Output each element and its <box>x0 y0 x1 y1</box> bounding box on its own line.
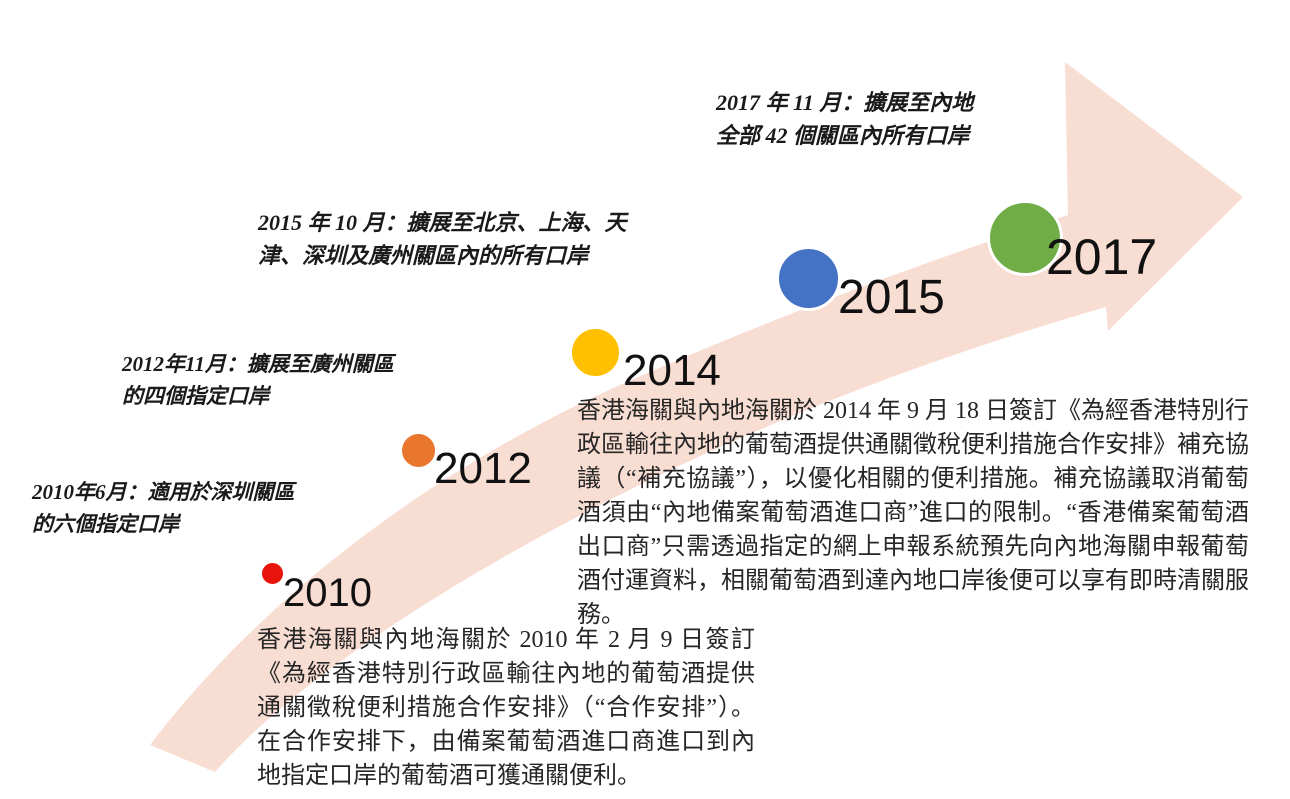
callout-2012: 2012年11月：擴展至廣州關區的四個指定口岸 <box>122 349 396 412</box>
paragraph-2014: 香港海關與內地海關於 2014 年 9 月 18 日簽訂《為經香港特別行政區輸往… <box>577 394 1249 633</box>
timeline-infographic: 2010 2012 2014 2015 2017 2010年6月：適用於深圳關區… <box>0 0 1290 799</box>
year-label-2010: 2010 <box>283 573 372 613</box>
paragraph-2010: 香港海關與內地海關於 2010 年 2 月 9 日簽訂《為經香港特別行政區輸往內… <box>257 623 755 793</box>
callout-2015: 2015 年 10 月：擴展至北京、上海、天津、深圳及廣州關區內的所有口岸 <box>258 206 650 272</box>
year-label-2015: 2015 <box>838 274 945 322</box>
callout-2010: 2010年6月：適用於深圳關區的六個指定口岸 <box>32 477 304 540</box>
milestone-dot-2010 <box>259 560 286 587</box>
year-label-2012: 2012 <box>434 447 532 491</box>
milestone-dot-2012 <box>399 431 438 470</box>
milestone-dot-2015 <box>776 246 841 311</box>
year-label-2014: 2014 <box>623 349 721 393</box>
callout-2017: 2017 年 11 月：擴展至內地全部 42 個關區內所有口岸 <box>716 86 978 152</box>
milestone-dot-2014 <box>569 326 622 379</box>
year-label-2017: 2017 <box>1046 232 1157 282</box>
